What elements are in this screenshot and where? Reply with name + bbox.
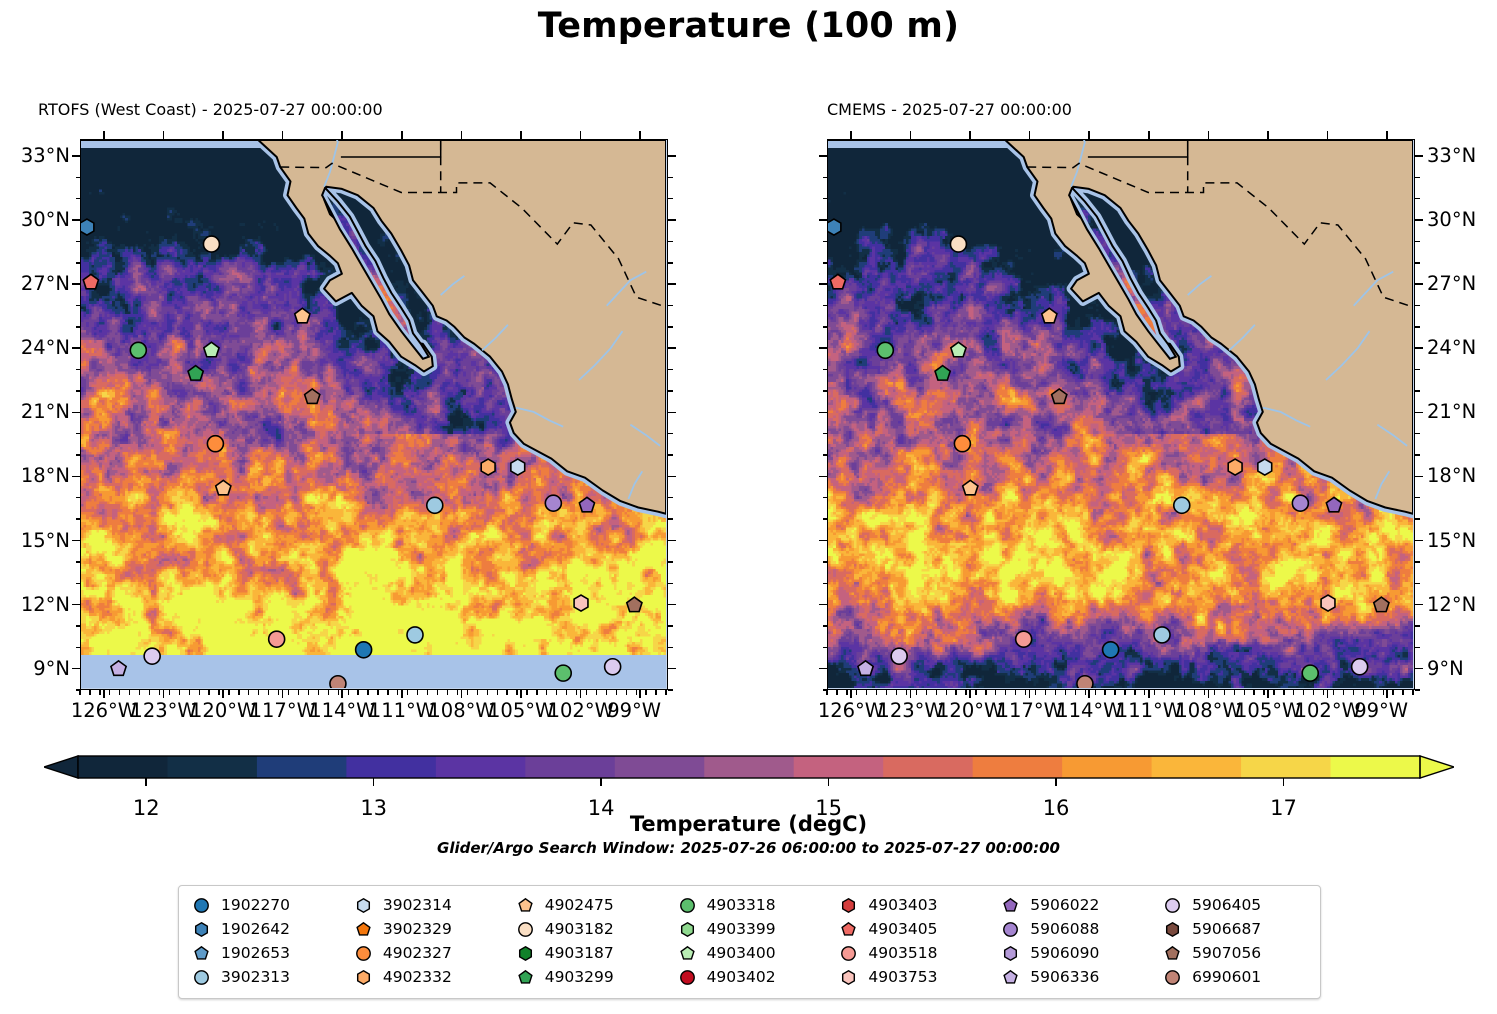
lat-tick xyxy=(72,476,80,478)
lon-minor-tick xyxy=(586,690,587,695)
lat-minor-tick xyxy=(823,262,828,263)
lon-minor-tick xyxy=(338,690,339,695)
lon-minor-tick xyxy=(1373,690,1374,695)
lon-minor-tick xyxy=(506,690,507,695)
legend-marker-hexagon xyxy=(1002,945,1019,962)
lat-tick-label: 12°N xyxy=(1427,593,1476,616)
lat-tick xyxy=(72,155,80,157)
colorbar-tick xyxy=(1283,778,1285,786)
lon-tick xyxy=(341,690,343,698)
lat-minor-tick xyxy=(76,583,81,584)
legend-marker-circle xyxy=(1164,897,1181,914)
lat-tick xyxy=(72,604,80,606)
lat-minor-tick xyxy=(668,198,673,199)
lon-minor-tick xyxy=(866,690,867,695)
lon-minor-tick xyxy=(1075,690,1076,695)
lat-tick xyxy=(1415,668,1423,670)
lon-minor-tick xyxy=(328,690,329,695)
lon-minor-tick xyxy=(1323,690,1324,695)
lon-minor-tick xyxy=(149,690,150,695)
lon-tick-label: 108°W xyxy=(428,699,494,722)
lat-minor-tick xyxy=(823,390,828,391)
legend-label: 4903399 xyxy=(707,920,776,938)
lon-minor-tick xyxy=(856,690,857,695)
lon-minor-tick xyxy=(1015,690,1016,695)
lat-minor-tick xyxy=(1415,177,1420,178)
lon-tick-label: 105°W xyxy=(488,699,554,722)
lon-minor-tick xyxy=(846,690,847,695)
legend-marker-circle xyxy=(517,921,534,938)
lat-minor-tick xyxy=(76,454,81,455)
lon-minor-tick xyxy=(278,690,279,695)
lon-minor-tick xyxy=(1353,690,1354,695)
lat-minor-tick xyxy=(1415,262,1420,263)
legend-item-4903399[interactable]: 4903399 xyxy=(669,917,831,941)
legend-item-1902270[interactable]: 1902270 xyxy=(183,893,345,917)
lon-tick xyxy=(1267,690,1269,698)
lon-tick-top xyxy=(1029,131,1031,139)
lat-minor-tick xyxy=(668,326,673,327)
legend-marker-pentagon xyxy=(517,969,534,986)
lon-minor-tick xyxy=(1184,690,1185,695)
lon-minor-tick xyxy=(179,690,180,695)
colorbar-tick xyxy=(373,778,375,786)
lat-minor-tick xyxy=(1415,454,1420,455)
lon-minor-tick xyxy=(985,690,986,695)
lat-minor-tick xyxy=(1415,625,1420,626)
legend-label: 4902327 xyxy=(383,944,452,962)
lon-minor-tick xyxy=(566,690,567,695)
lat-tick-opposite xyxy=(668,476,676,478)
legend-item-4903318[interactable]: 4903318 xyxy=(669,893,831,917)
lon-minor-tick xyxy=(1035,690,1036,695)
lat-minor-tick xyxy=(823,583,828,584)
legend-item-5907056[interactable]: 5907056 xyxy=(1154,941,1316,965)
lon-tick-top xyxy=(1267,131,1269,139)
legend-marker-hexagon xyxy=(679,921,696,938)
lon-minor-tick xyxy=(645,690,646,695)
lat-tick-label: 33°N xyxy=(0,144,70,167)
lat-minor-tick xyxy=(823,305,828,306)
lon-minor-tick xyxy=(1402,690,1403,695)
lat-tick-label: 21°N xyxy=(0,400,70,423)
legend-item-4903402[interactable]: 4903402 xyxy=(669,965,831,989)
lon-minor-tick xyxy=(616,690,617,695)
legend-marker-hexagon xyxy=(1164,921,1181,938)
lat-tick-label: 27°N xyxy=(1427,272,1476,295)
lon-tick-top xyxy=(1148,131,1150,139)
lon-minor-tick xyxy=(556,690,557,695)
lon-tick xyxy=(1208,690,1210,698)
legend-marker-pentagon xyxy=(1002,897,1019,914)
lon-minor-tick xyxy=(876,690,877,695)
lon-minor-tick xyxy=(1234,690,1235,695)
lat-minor-tick xyxy=(668,497,673,498)
lon-tick-top xyxy=(401,131,403,139)
lat-tick xyxy=(72,540,80,542)
lat-tick-opposite xyxy=(819,347,827,349)
legend-item-4903400[interactable]: 4903400 xyxy=(669,941,831,965)
lon-minor-tick xyxy=(596,690,597,695)
lat-minor-tick xyxy=(76,561,81,562)
lat-tick-opposite xyxy=(668,604,676,606)
lon-minor-tick xyxy=(1283,690,1284,695)
lon-minor-tick xyxy=(896,690,897,695)
legend-item-3902313[interactable]: 3902313 xyxy=(183,965,345,989)
legend-marker-circle xyxy=(193,897,210,914)
lon-tick-top xyxy=(910,131,912,139)
lon-minor-tick xyxy=(1244,690,1245,695)
lon-minor-tick xyxy=(377,690,378,695)
lon-minor-tick xyxy=(487,690,488,695)
lon-minor-tick xyxy=(497,690,498,695)
legend-item-6990601[interactable]: 6990601 xyxy=(1154,965,1316,989)
lat-tick-label: 15°N xyxy=(1427,529,1476,552)
lat-minor-tick xyxy=(823,497,828,498)
lon-minor-tick xyxy=(1124,690,1125,695)
lat-minor-tick xyxy=(668,390,673,391)
lon-tick-label: 108°W xyxy=(1175,699,1241,722)
lon-minor-tick xyxy=(1095,690,1096,695)
lon-minor-tick xyxy=(268,690,269,695)
lon-minor-tick xyxy=(437,690,438,695)
lon-minor-tick xyxy=(1224,690,1225,695)
legend-item-4903299[interactable]: 4903299 xyxy=(507,965,669,989)
lon-minor-tick xyxy=(159,690,160,695)
legend-label: 4903402 xyxy=(707,968,776,986)
legend-label: 4902475 xyxy=(545,896,614,914)
lon-minor-tick xyxy=(129,690,130,695)
legend-item-4902332[interactable]: 4902332 xyxy=(345,965,507,989)
lon-minor-tick xyxy=(189,690,190,695)
lat-minor-tick xyxy=(668,241,673,242)
lon-minor-tick xyxy=(1134,690,1135,695)
legend-item-3902314[interactable]: 3902314 xyxy=(345,893,507,917)
colorbar-tick xyxy=(600,778,602,786)
lat-tick-label: 24°N xyxy=(0,336,70,359)
legend-item-4903182[interactable]: 4903182 xyxy=(507,917,669,941)
lon-minor-tick xyxy=(1194,690,1195,695)
lon-minor-tick xyxy=(536,690,537,695)
legend-grid: 1902270190264219026533902313390231439023… xyxy=(183,893,1316,989)
lon-minor-tick xyxy=(169,690,170,695)
lat-minor-tick xyxy=(1415,369,1420,370)
legend-label: 5906088 xyxy=(1030,920,1099,938)
lon-tick-top xyxy=(103,131,105,139)
legend-label: 4903403 xyxy=(868,896,937,914)
lat-minor-tick xyxy=(1415,583,1420,584)
lon-tick xyxy=(910,690,912,698)
legend-item-5906090[interactable]: 5906090 xyxy=(992,941,1154,965)
lon-tick-label: 120°W xyxy=(937,699,1003,722)
legend-label: 4903518 xyxy=(868,944,937,962)
lon-minor-tick xyxy=(526,690,527,695)
lat-tick xyxy=(1415,540,1423,542)
lon-minor-tick xyxy=(1065,690,1066,695)
lon-minor-tick xyxy=(1263,690,1264,695)
lon-minor-tick xyxy=(1363,690,1364,695)
lon-minor-tick xyxy=(99,690,100,695)
lat-tick-opposite xyxy=(819,283,827,285)
lat-minor-tick xyxy=(1415,326,1420,327)
lon-tick-label: 114°W xyxy=(1056,699,1122,722)
lon-tick-label: 123°W xyxy=(130,699,196,722)
lon-tick xyxy=(163,690,165,698)
lon-tick-top xyxy=(341,131,343,139)
legend-marker-circle xyxy=(679,897,696,914)
lon-minor-tick xyxy=(139,690,140,695)
lon-minor-tick xyxy=(975,690,976,695)
lat-tick-opposite xyxy=(819,155,827,157)
lat-tick xyxy=(72,347,80,349)
legend-marker-circle xyxy=(193,969,210,986)
legend-item-4903753[interactable]: 4903753 xyxy=(830,965,992,989)
lat-minor-tick xyxy=(76,689,81,690)
lon-minor-tick xyxy=(248,690,249,695)
lon-minor-tick xyxy=(655,690,656,695)
lon-minor-tick xyxy=(238,690,239,695)
lat-tick xyxy=(72,668,80,670)
lon-tick-label: 99°W xyxy=(1354,699,1408,722)
lat-minor-tick xyxy=(823,518,828,519)
legend-label: 4903187 xyxy=(545,944,614,962)
lon-minor-tick xyxy=(916,690,917,695)
lat-minor-tick xyxy=(76,326,81,327)
lat-minor-tick xyxy=(823,198,828,199)
lat-minor-tick xyxy=(1415,689,1420,690)
colorbar-tick xyxy=(1055,778,1057,786)
lon-minor-tick xyxy=(1303,690,1304,695)
lon-tick xyxy=(1029,690,1031,698)
legend-label: 4903182 xyxy=(545,920,614,938)
lat-minor-tick xyxy=(1415,561,1420,562)
legend-label: 4902332 xyxy=(383,968,452,986)
lon-minor-tick xyxy=(936,690,937,695)
lon-tick-label: 117°W xyxy=(997,699,1063,722)
lat-minor-tick xyxy=(76,369,81,370)
lon-minor-tick xyxy=(926,690,927,695)
lat-tick xyxy=(1415,476,1423,478)
legend-item-5906088[interactable]: 5906088 xyxy=(992,917,1154,941)
lon-tick-top xyxy=(1327,131,1329,139)
legend-marker-pentagon xyxy=(355,921,372,938)
lat-minor-tick xyxy=(823,625,828,626)
lat-minor-tick xyxy=(668,583,673,584)
lat-tick-opposite xyxy=(668,155,676,157)
lat-minor-tick xyxy=(76,625,81,626)
legend-label: 1902653 xyxy=(221,944,290,962)
lat-minor-tick xyxy=(823,689,828,690)
search-window-subtitle: Glider/Argo Search Window: 2025-07-26 06… xyxy=(0,839,1497,857)
legend-item-1902653[interactable]: 1902653 xyxy=(183,941,345,965)
lon-tick xyxy=(1088,690,1090,698)
lat-minor-tick xyxy=(823,369,828,370)
axis-ticks-layer: 126°W123°W120°W117°W114°W111°W108°W105°W… xyxy=(0,0,1497,1014)
lat-minor-tick xyxy=(823,433,828,434)
legend-label: 3902313 xyxy=(221,968,290,986)
lon-minor-tick xyxy=(1045,690,1046,695)
lon-tick-label: 99°W xyxy=(607,699,661,722)
lon-minor-tick xyxy=(79,690,80,695)
lon-minor-tick xyxy=(367,690,368,695)
lon-minor-tick xyxy=(1293,690,1294,695)
legend-marker-hexagon xyxy=(840,897,857,914)
lat-minor-tick xyxy=(76,305,81,306)
lon-minor-tick xyxy=(636,690,637,695)
lon-minor-tick xyxy=(119,690,120,695)
lon-tick-top xyxy=(1088,131,1090,139)
lon-minor-tick xyxy=(1005,690,1006,695)
lon-tick-label: 123°W xyxy=(877,699,943,722)
lon-tick-label: 126°W xyxy=(71,699,137,722)
lon-tick-label: 126°W xyxy=(818,699,884,722)
lat-minor-tick xyxy=(823,454,828,455)
lat-minor-tick xyxy=(668,518,673,519)
legend-item-4903403[interactable]: 4903403 xyxy=(830,893,992,917)
legend-item-1902642[interactable]: 1902642 xyxy=(183,917,345,941)
lat-minor-tick xyxy=(1415,198,1420,199)
lon-minor-tick xyxy=(1313,690,1314,695)
lon-minor-tick xyxy=(1253,690,1254,695)
lat-minor-tick xyxy=(823,177,828,178)
lon-minor-tick xyxy=(1204,690,1205,695)
lon-minor-tick xyxy=(626,690,627,695)
lon-tick-label: 102°W xyxy=(1295,699,1361,722)
lat-minor-tick xyxy=(76,647,81,648)
lon-minor-tick xyxy=(298,690,299,695)
lat-tick-opposite xyxy=(668,283,676,285)
lat-minor-tick xyxy=(76,241,81,242)
legend-item-5906336[interactable]: 5906336 xyxy=(992,965,1154,989)
legend-item-4903518[interactable]: 4903518 xyxy=(830,941,992,965)
lon-minor-tick xyxy=(1114,690,1115,695)
legend-label: 5906090 xyxy=(1030,944,1099,962)
lon-tick-top xyxy=(1386,131,1388,139)
lon-minor-tick xyxy=(288,690,289,695)
legend-label: 4903753 xyxy=(868,968,937,986)
legend-marker-hexagon xyxy=(355,969,372,986)
lon-minor-tick xyxy=(965,690,966,695)
lon-minor-tick xyxy=(1273,690,1274,695)
lon-minor-tick xyxy=(955,690,956,695)
lat-tick-label: 33°N xyxy=(1427,144,1476,167)
lat-minor-tick xyxy=(76,177,81,178)
legend-label: 4903405 xyxy=(868,920,937,938)
lon-tick xyxy=(401,690,403,698)
lat-minor-tick xyxy=(668,305,673,306)
lon-minor-tick xyxy=(1392,690,1393,695)
lat-minor-tick xyxy=(1415,390,1420,391)
lat-tick-label: 27°N xyxy=(0,272,70,295)
legend-marker-hexagon xyxy=(355,897,372,914)
lat-minor-tick xyxy=(1415,518,1420,519)
lon-tick-top xyxy=(282,131,284,139)
lat-minor-tick xyxy=(668,561,673,562)
legend-label: 4903400 xyxy=(707,944,776,962)
legend-label: 5907056 xyxy=(1192,944,1261,962)
lon-minor-tick xyxy=(1055,690,1056,695)
lat-tick xyxy=(1415,219,1423,221)
lon-minor-tick xyxy=(447,690,448,695)
lon-tick-top xyxy=(1208,131,1210,139)
lat-minor-tick xyxy=(668,454,673,455)
lon-minor-tick xyxy=(1154,690,1155,695)
lat-tick-label: 18°N xyxy=(1427,464,1476,487)
lat-tick-opposite xyxy=(668,412,676,414)
lat-minor-tick xyxy=(76,497,81,498)
lat-tick xyxy=(72,412,80,414)
colorbar-title: Temperature (degC) xyxy=(0,812,1497,836)
lon-tick xyxy=(969,690,971,698)
legend-item-5906022[interactable]: 5906022 xyxy=(992,893,1154,917)
lon-tick-label: 102°W xyxy=(548,699,614,722)
lat-minor-tick xyxy=(76,390,81,391)
colorbar: 121314151617 xyxy=(44,752,1454,786)
lat-minor-tick xyxy=(668,689,673,690)
lon-minor-tick xyxy=(516,690,517,695)
platform-legend[interactable]: 1902270190264219026533902313390231439023… xyxy=(178,885,1321,999)
lon-tick-top xyxy=(520,131,522,139)
legend-item-4902327[interactable]: 4902327 xyxy=(345,941,507,965)
lon-minor-tick xyxy=(258,690,259,695)
legend-item-4903187[interactable]: 4903187 xyxy=(507,941,669,965)
lon-tick xyxy=(282,690,284,698)
legend-item-5906687[interactable]: 5906687 xyxy=(1154,917,1316,941)
lon-minor-tick xyxy=(457,690,458,695)
lat-tick xyxy=(1415,347,1423,349)
legend-label: 1902642 xyxy=(221,920,290,938)
lon-minor-tick xyxy=(1383,690,1384,695)
lat-tick xyxy=(1415,283,1423,285)
legend-item-4903405[interactable]: 4903405 xyxy=(830,917,992,941)
lon-minor-tick xyxy=(1144,690,1145,695)
lon-minor-tick xyxy=(826,690,827,695)
lat-minor-tick xyxy=(1415,497,1420,498)
lon-minor-tick xyxy=(1164,690,1165,695)
lon-minor-tick xyxy=(387,690,388,695)
lon-tick xyxy=(520,690,522,698)
lon-minor-tick xyxy=(318,690,319,695)
legend-item-3902329[interactable]: 3902329 xyxy=(345,917,507,941)
lon-tick xyxy=(461,690,463,698)
lat-tick xyxy=(72,283,80,285)
lat-minor-tick xyxy=(1415,433,1420,434)
lon-tick-label: 105°W xyxy=(1235,699,1301,722)
lat-tick-opposite xyxy=(819,604,827,606)
lat-minor-tick xyxy=(76,262,81,263)
lon-tick xyxy=(103,690,105,698)
lat-tick xyxy=(1415,155,1423,157)
lon-minor-tick xyxy=(1214,690,1215,695)
lat-tick-label: 30°N xyxy=(1427,208,1476,231)
legend-item-4902475[interactable]: 4902475 xyxy=(507,893,669,917)
lat-tick-label: 9°N xyxy=(0,657,70,680)
legend-label: 1902270 xyxy=(221,896,290,914)
lat-tick-opposite xyxy=(668,219,676,221)
lat-minor-tick xyxy=(823,326,828,327)
lon-minor-tick xyxy=(467,690,468,695)
lon-minor-tick xyxy=(427,690,428,695)
lon-minor-tick xyxy=(1343,690,1344,695)
lon-tick-label: 120°W xyxy=(190,699,256,722)
legend-label: 5906022 xyxy=(1030,896,1099,914)
legend-label: 4903318 xyxy=(707,896,776,914)
lat-tick-label: 24°N xyxy=(1427,336,1476,359)
legend-label: 5906336 xyxy=(1030,968,1099,986)
legend-item-5906405[interactable]: 5906405 xyxy=(1154,893,1316,917)
lat-tick-opposite xyxy=(819,476,827,478)
lat-tick-label: 21°N xyxy=(1427,400,1476,423)
